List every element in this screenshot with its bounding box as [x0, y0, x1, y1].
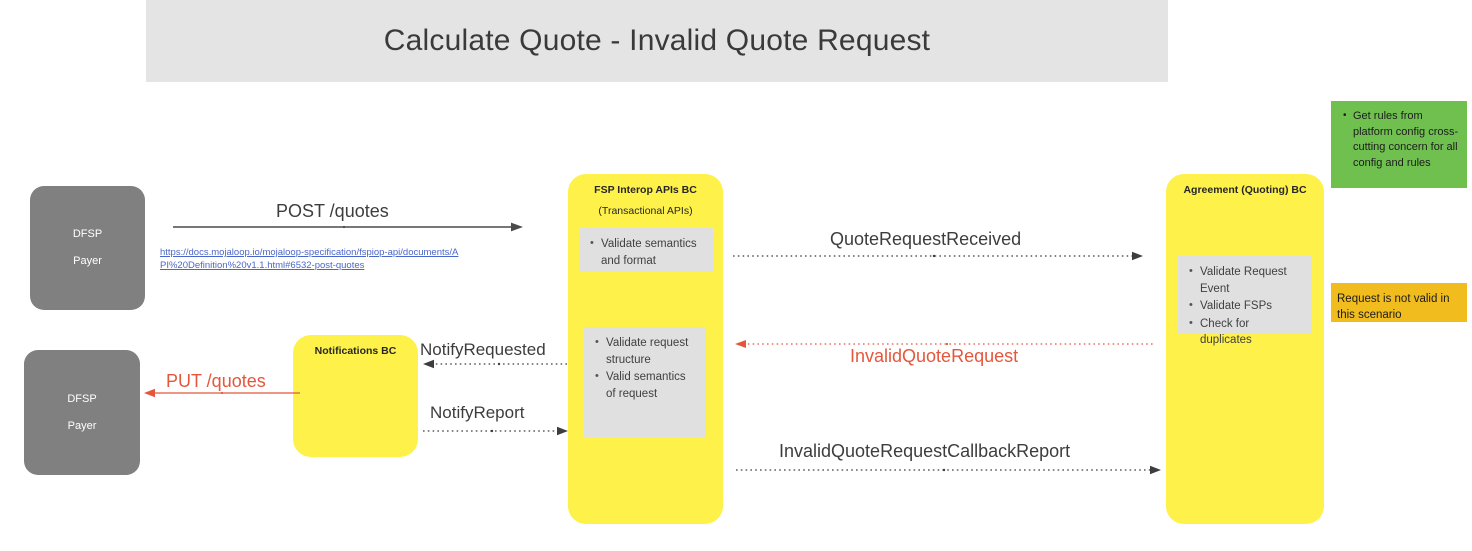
arrow-invalid-quote-request-callback-report — [736, 463, 1161, 477]
context-title: Notifications BC — [293, 345, 418, 357]
note-item: Valid semantics of request — [606, 369, 698, 402]
arrow-quote-request-received — [733, 249, 1143, 263]
arrow-invalid-quote-request — [735, 337, 1155, 351]
diagram-canvas: Calculate Quote - Invalid Quote Request … — [0, 0, 1472, 551]
arrow-post-quotes — [173, 220, 523, 234]
actor-label-line2: Payer — [73, 256, 102, 267]
context-title: Agreement (Quoting) BC — [1166, 184, 1324, 196]
context-title: FSP Interop APIs BC — [568, 184, 723, 196]
arrow-put-quotes — [144, 386, 300, 400]
message-label-quote-request-received: QuoteRequestReceived — [830, 229, 1021, 250]
note-agreement-validations: Validate Request Event Validate FSPs Che… — [1178, 256, 1312, 334]
note-item: Validate FSPs — [1200, 298, 1304, 315]
note-item: Validate Request Event — [1200, 264, 1304, 297]
arrow-notify-requested — [423, 357, 568, 371]
note-validate-semantics-format: Validate semantics and format — [579, 228, 713, 272]
note-item: Validate semantics and format — [601, 236, 705, 269]
context-agreement-quoting-bc: Agreement (Quoting) BC — [1166, 174, 1324, 524]
actor-label-line2: Payer — [68, 421, 97, 432]
actor-label-line1: DFSP — [73, 229, 102, 240]
callout-text: Request is not valid in this scenario — [1337, 291, 1459, 323]
diagram-title-banner: Calculate Quote - Invalid Quote Request — [146, 0, 1168, 82]
callout-item: Get rules from platform config cross-cut… — [1353, 109, 1459, 171]
message-label-invalid-quote-request-callback-report: InvalidQuoteRequestCallbackReport — [779, 441, 1070, 462]
actor-label-line1: DFSP — [67, 394, 96, 405]
actor-dfsp-payer-bottom: DFSP Payer — [24, 350, 140, 475]
page-title: Calculate Quote - Invalid Quote Request — [384, 24, 930, 58]
context-notifications-bc: Notifications BC — [293, 335, 418, 457]
callout-platform-config-rules: Get rules from platform config cross-cut… — [1331, 101, 1467, 188]
callout-request-not-valid: Request is not valid in this scenario — [1331, 283, 1467, 322]
note-validate-request-structure: Validate request structure Valid semanti… — [584, 327, 706, 437]
note-item: Check for duplicates — [1200, 316, 1304, 349]
arrow-notify-report — [423, 424, 568, 438]
actor-dfsp-payer-top: DFSP Payer — [30, 186, 145, 310]
message-label-notify-report: NotifyReport — [430, 403, 524, 423]
fspiop-api-spec-link[interactable]: https://docs.mojaloop.io/mojaloop-specif… — [160, 246, 460, 272]
note-item: Validate request structure — [606, 335, 698, 368]
message-label-post-quotes: POST /quotes — [276, 201, 389, 222]
context-subtitle: (Transactional APIs) — [568, 205, 723, 217]
